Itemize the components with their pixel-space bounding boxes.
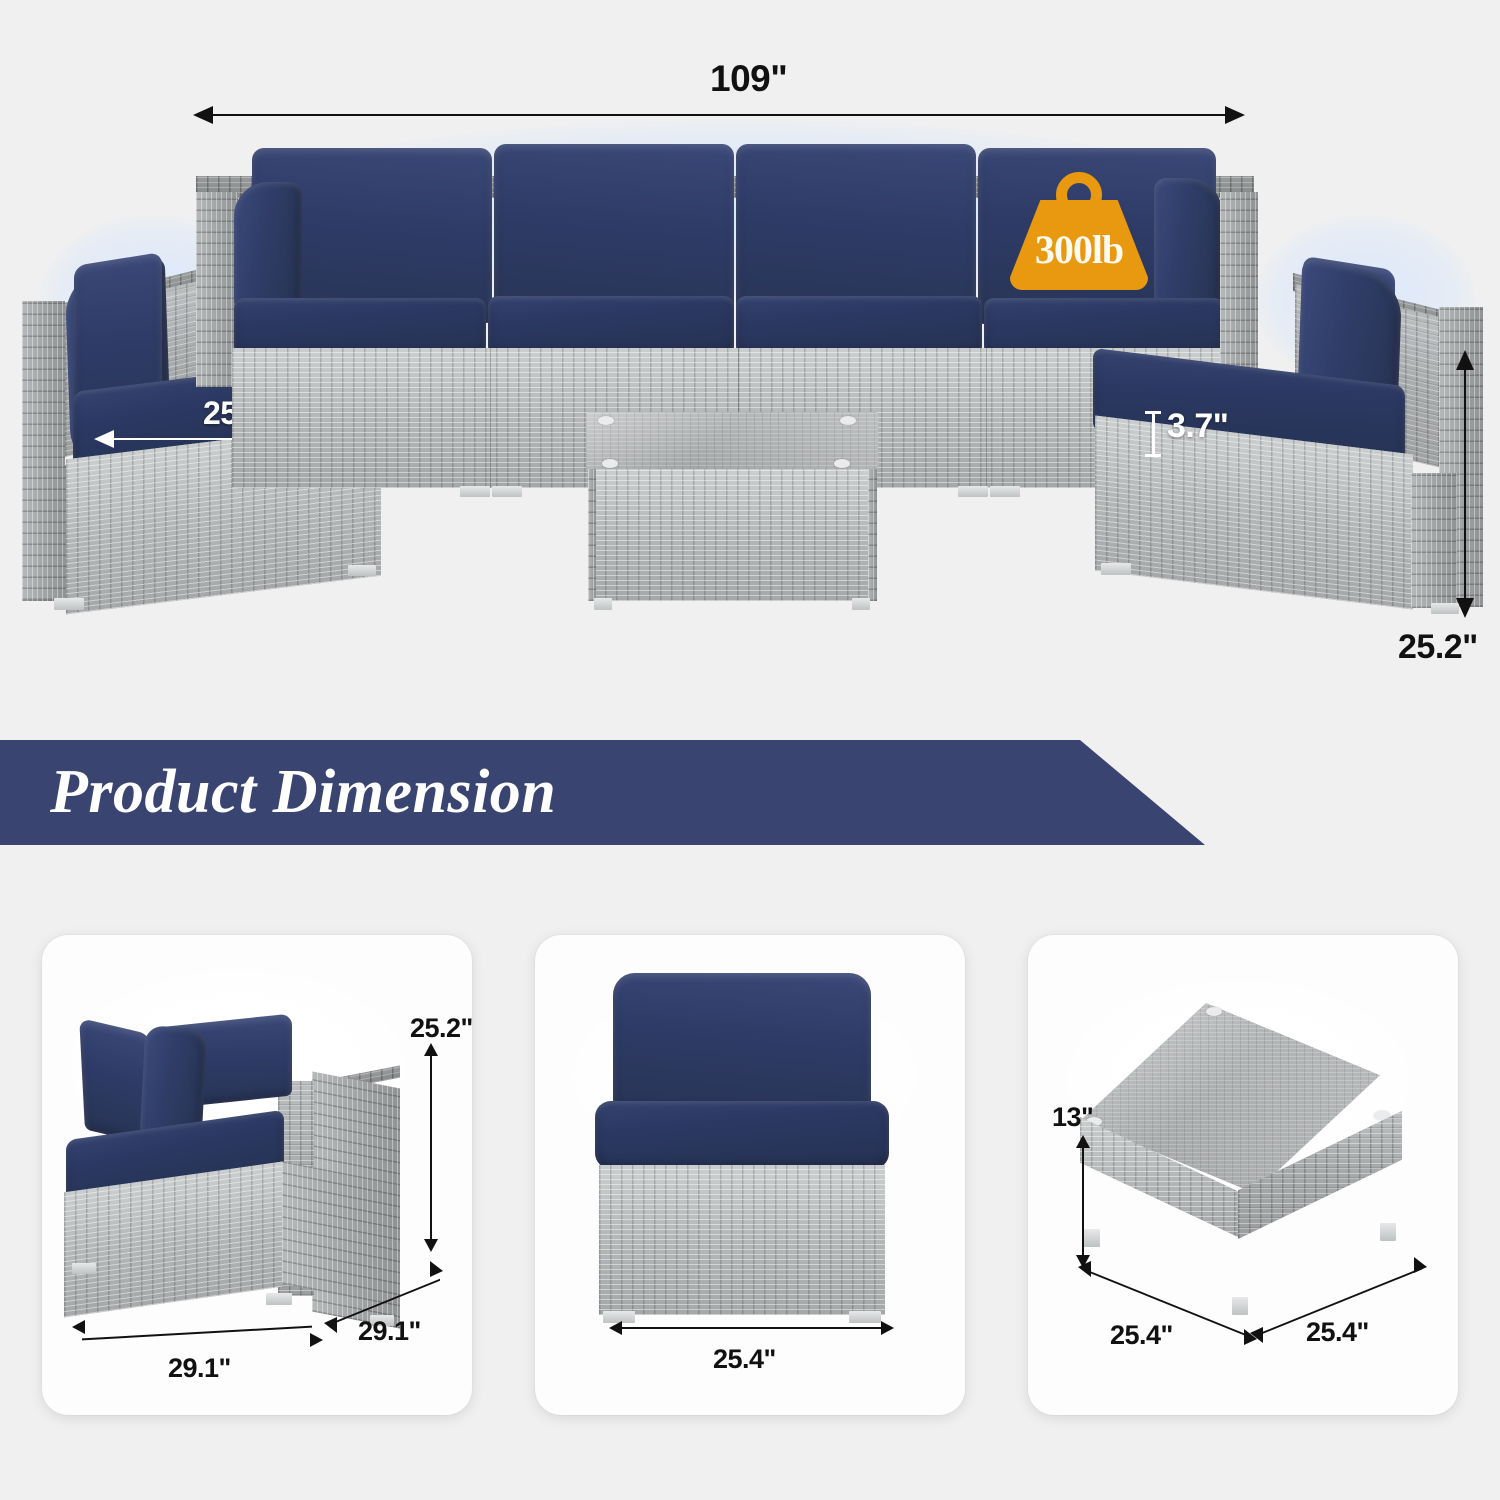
- sofa-base-seam-1: [490, 348, 491, 488]
- ct-width-right-arrow-end-icon: [1414, 1257, 1427, 1273]
- cc-height-arrow-up-icon: [424, 1043, 438, 1056]
- overall-width-label: 109": [710, 58, 787, 100]
- ac-width-arrow-right-icon: [881, 1321, 894, 1335]
- cc-foot-left: [72, 1263, 96, 1274]
- sofa-foot-3: [958, 486, 988, 497]
- ibeam-bottom-cap: [1145, 454, 1161, 457]
- cushion-thickness-ibeam-icon: [1145, 411, 1161, 457]
- weight-capacity-badge: 300lb: [1010, 172, 1148, 290]
- hero-coffee-table: [576, 412, 888, 617]
- right-corner-chair: 3.7": [1095, 215, 1485, 625]
- overall-width-arrow-left-icon: [193, 106, 213, 124]
- hero-table-right-edge: [868, 469, 877, 601]
- ac-back-cushion: [613, 973, 871, 1113]
- hero-table-pad-br: [834, 459, 850, 468]
- cc-width-arrow-left-icon: [72, 1320, 85, 1334]
- ct-width-right-arrow-start-icon: [1250, 1327, 1263, 1343]
- seat-depth-arrow-left-icon: [94, 430, 114, 448]
- card-armless-chair-illustration: 25.4": [535, 935, 965, 1415]
- ct-height-line: [1082, 1145, 1084, 1257]
- cc-height-label: 25.2": [410, 1013, 472, 1044]
- ct-foot-right: [1380, 1223, 1396, 1241]
- overall-width-line: [205, 114, 1237, 116]
- ac-width-label: 25.4": [713, 1344, 776, 1375]
- coffee-table-model: [1050, 993, 1450, 1323]
- cc-height-arrow-down-icon: [424, 1239, 438, 1252]
- hero-table-foot-left: [594, 598, 612, 610]
- ct-foot-left: [1084, 1229, 1100, 1247]
- ct-width-left-arrow-start-icon: [1078, 1261, 1091, 1277]
- right-foot-front: [1101, 563, 1131, 575]
- ac-seat-cushion: [595, 1101, 889, 1169]
- overall-height-line: [1464, 368, 1466, 600]
- sofa-base-seam-3: [986, 348, 987, 488]
- cc-base-right-panel: [282, 1162, 400, 1307]
- sofa-foot-4: [990, 486, 1020, 497]
- hero-product-photo: 109" 25.4": [0, 0, 1500, 730]
- ac-width-arrow-left-icon: [609, 1321, 622, 1335]
- infographic-stage: 109" 25.4": [0, 0, 1500, 1500]
- sofa-foot-2: [492, 486, 522, 497]
- overall-width-arrow-right-icon: [1225, 106, 1245, 124]
- weight-capacity-value: 300lb: [1010, 226, 1148, 273]
- sofa-foot-1: [460, 486, 490, 497]
- ct-pad-top: [1206, 1007, 1222, 1016]
- ct-width-right-label: 25.4": [1306, 1317, 1369, 1348]
- card-corner-chair-illustration: 25.2" 29.1" 29.1": [42, 935, 472, 1415]
- card-corner-chair[interactable]: 25.2" 29.1" 29.1" Corner chair X 2: [42, 935, 472, 1415]
- card-coffee-table-illustration: 13" 25.4" 25.4": [1028, 935, 1458, 1415]
- left-foot-front: [54, 598, 84, 610]
- hero-table-pad-bl: [602, 459, 618, 468]
- cc-height-line: [430, 1053, 432, 1241]
- ac-foot-right: [849, 1311, 881, 1323]
- page-title: Product Dimension: [50, 757, 556, 828]
- card-coffee-table[interactable]: 13" 25.4" 25.4" Coffee table X 1: [1028, 935, 1458, 1415]
- right-foot-side: [1431, 603, 1459, 614]
- hero-table-left-edge: [588, 469, 596, 601]
- cc-depth-arrow-end-icon: [430, 1261, 443, 1277]
- hero-table-pad-tl: [598, 416, 614, 425]
- left-foot-side: [348, 565, 376, 576]
- ct-height-arrow-up-icon: [1076, 1135, 1090, 1148]
- hero-table-foot-right: [852, 598, 870, 610]
- cc-width-label: 29.1": [168, 1353, 231, 1384]
- sofa-seat-cushion-2: [488, 296, 734, 356]
- ac-width-line: [621, 1327, 883, 1329]
- corner-chair-model: [60, 985, 430, 1345]
- section-banner: Product Dimension: [0, 740, 1205, 845]
- sofa-seat-cushion-3: [736, 296, 982, 356]
- ct-foot-front: [1232, 1297, 1248, 1315]
- hero-table-pad-tr: [840, 416, 856, 425]
- cc-foot-front: [266, 1293, 292, 1305]
- ac-base-front-panel: [599, 1165, 885, 1315]
- component-cards-row: 25.2" 29.1" 29.1" Corner chair X 2: [0, 930, 1500, 1500]
- ct-height-label: 13": [1052, 1102, 1093, 1133]
- right-base-side-panel: [1411, 473, 1457, 608]
- overall-height-arrow-down-icon: [1456, 598, 1474, 618]
- left-base-side-panel: [22, 465, 66, 600]
- hero-table-front-panel: [594, 469, 870, 601]
- card-armless-chair[interactable]: 25.4" Armless chair X 4: [535, 935, 965, 1415]
- overall-height-label: 25.2": [1398, 628, 1478, 667]
- overall-height-arrow-up-icon: [1456, 350, 1474, 370]
- cc-width-arrow-right-icon: [310, 1333, 323, 1347]
- armless-chair-model: [595, 973, 895, 1353]
- ct-width-left-label: 25.4": [1110, 1320, 1173, 1351]
- ibeam-stem: [1152, 411, 1155, 457]
- cc-depth-label: 29.1": [358, 1316, 421, 1347]
- cc-depth-arrow-start-icon: [324, 1317, 337, 1333]
- cushion-thickness-label: 3.7": [1167, 407, 1228, 446]
